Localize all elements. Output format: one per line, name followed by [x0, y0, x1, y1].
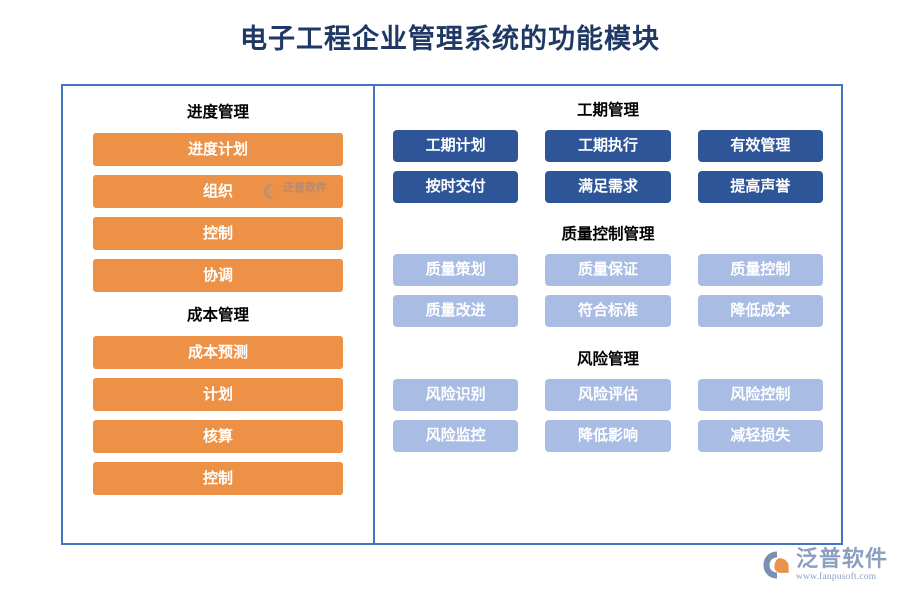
module-button[interactable]: 进度计划: [93, 133, 343, 166]
module-button[interactable]: 核算: [93, 420, 343, 453]
module-button[interactable]: 满足需求: [545, 171, 670, 203]
group-heading-schedule: 进度管理: [63, 103, 373, 123]
module-button[interactable]: 符合标准: [545, 295, 670, 327]
group-heading-cost: 成本管理: [63, 306, 373, 326]
module-button[interactable]: 控制: [93, 462, 343, 495]
module-button[interactable]: 按时交付: [393, 171, 518, 203]
brand-name: 泛普软件: [796, 548, 888, 570]
brand-logo-text: 泛普软件 www.fanpusoft.com: [796, 548, 888, 583]
right-column: 工期管理 工期计划 工期执行 有效管理 按时交付 满足需求 提高声誉 质量控制管…: [375, 86, 841, 543]
brand-url: www.fanpusoft.com: [796, 573, 888, 583]
quality-button-grid: 质量策划 质量保证 质量控制 质量改进 符合标准 降低成本: [393, 254, 823, 327]
page-title: 电子工程企业管理系统的功能模块: [0, 22, 900, 56]
module-button[interactable]: 协调: [93, 259, 343, 292]
section-duration: 工期管理 工期计划 工期执行 有效管理 按时交付 满足需求 提高声誉: [375, 86, 841, 203]
group-heading-quality: 质量控制管理: [393, 225, 823, 245]
brand-logo: 泛普软件 www.fanpusoft.com: [762, 548, 888, 583]
section-quality: 质量控制管理 质量策划 质量保证 质量控制 质量改进 符合标准 降低成本: [375, 203, 841, 327]
module-button[interactable]: 计划: [93, 378, 343, 411]
module-button[interactable]: 工期执行: [545, 130, 670, 162]
module-button[interactable]: 工期计划: [393, 130, 518, 162]
module-button[interactable]: 质量改进: [393, 295, 518, 327]
module-button[interactable]: 质量保证: [545, 254, 670, 286]
module-button[interactable]: 降低成本: [698, 295, 823, 327]
duration-button-grid: 工期计划 工期执行 有效管理 按时交付 满足需求 提高声誉: [393, 130, 823, 203]
module-button[interactable]: 风险识别: [393, 379, 518, 411]
module-button[interactable]: 成本预测: [93, 336, 343, 369]
module-button[interactable]: 控制: [93, 217, 343, 250]
schedule-button-stack: 进度计划 组织 控制 协调: [63, 133, 373, 292]
left-column: 泛普软件 FANPU SOFTWARE 进度管理 进度计划 组织 控制 协调 成…: [63, 86, 375, 543]
module-button[interactable]: 质量策划: [393, 254, 518, 286]
risk-button-grid: 风险识别 风险评估 风险控制 风险监控 降低影响 减轻损失: [393, 379, 823, 452]
fanpu-logo-icon: [762, 550, 792, 580]
module-button[interactable]: 降低影响: [545, 420, 670, 452]
module-button[interactable]: 质量控制: [698, 254, 823, 286]
group-heading-duration: 工期管理: [393, 101, 823, 121]
group-heading-risk: 风险管理: [393, 350, 823, 370]
cost-button-stack: 成本预测 计划 核算 控制: [63, 336, 373, 495]
diagram-frame: 泛普软件 FANPU SOFTWARE 进度管理 进度计划 组织 控制 协调 成…: [61, 84, 843, 545]
module-button[interactable]: 减轻损失: [698, 420, 823, 452]
module-button[interactable]: 组织: [93, 175, 343, 208]
module-button[interactable]: 风险控制: [698, 379, 823, 411]
module-button[interactable]: 有效管理: [698, 130, 823, 162]
module-button[interactable]: 风险监控: [393, 420, 518, 452]
section-risk: 风险管理 风险识别 风险评估 风险控制 风险监控 降低影响 减轻损失: [375, 327, 841, 452]
module-button[interactable]: 风险评估: [545, 379, 670, 411]
module-button[interactable]: 提高声誉: [698, 171, 823, 203]
